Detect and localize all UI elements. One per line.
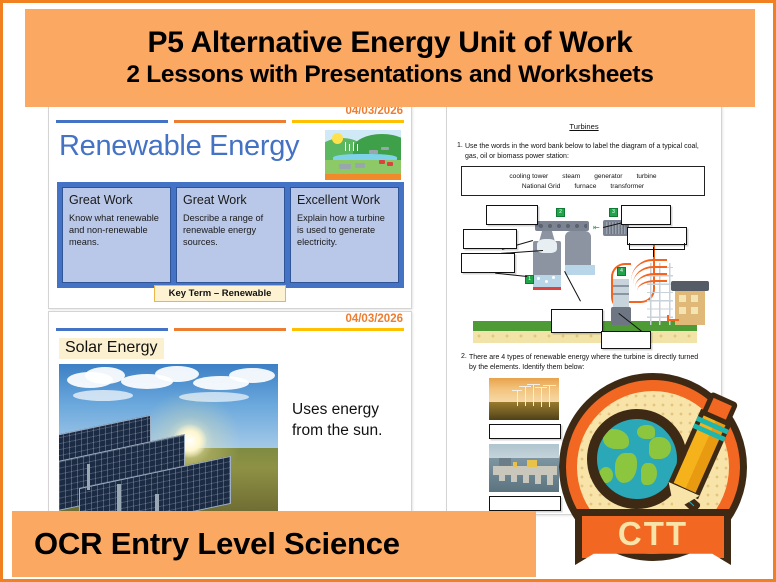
power-station-diagram: ⇤ 1 2 3 — [461, 203, 705, 345]
renewable-energy-landscape-clipart — [325, 130, 401, 180]
solar-panel-field-photo — [59, 364, 278, 514]
accent-bar-orange — [174, 120, 286, 123]
ctt-logo-badge: CTT — [555, 369, 763, 577]
slide-renewable-energy[interactable]: 04/03/2026 Renewable Energy — [48, 103, 412, 309]
word-bank-term: turbine — [636, 173, 656, 180]
word-bank-row-2: National Grid furnace transformer — [522, 183, 644, 190]
word-bank: cooling tower steam generator turbine Na… — [461, 166, 705, 196]
objective-body: Know what renewable and non-renewable me… — [69, 212, 164, 248]
slide-accent-bars — [56, 120, 404, 123]
word-bank-term: steam — [562, 173, 580, 180]
learning-objectives-strip: Great Work Know what renewable and non-r… — [57, 182, 404, 288]
tidal-barrage-photo — [489, 444, 559, 492]
logo-text: CTT — [618, 516, 688, 550]
accent-bar-blue — [56, 120, 168, 123]
footer-banner: OCR Entry Level Science — [12, 511, 536, 577]
objective-body: Describe a range of renewable energy sou… — [183, 212, 278, 248]
wind-turbines-photo — [489, 378, 559, 420]
diagram-marker-2: 2 — [556, 208, 565, 217]
objective-body: Explain how a turbine is used to generat… — [297, 212, 392, 248]
word-bank-term: generator — [594, 173, 622, 180]
slide-title: Solar Energy — [59, 338, 164, 359]
accent-bar-yellow — [292, 120, 404, 123]
accent-bar-blue — [56, 328, 168, 331]
key-term-badge: Key Term – Renewable — [154, 285, 286, 302]
worksheet-title: Turbines — [447, 122, 721, 131]
objective-heading: Great Work — [69, 193, 164, 207]
diagram-marker-3: 3 — [609, 208, 618, 217]
word-bank-term: transformer — [610, 183, 644, 190]
word-bank-term: National Grid — [522, 183, 560, 190]
word-bank-row-1: cooling tower steam generator turbine — [509, 173, 656, 180]
answer-box-1[interactable] — [489, 424, 561, 439]
slide-preview-stack: 04/03/2026 Renewable Energy — [48, 103, 412, 515]
slide-accent-bars — [56, 328, 404, 331]
question-2-number: 2. — [461, 353, 467, 360]
diagram-label-box[interactable] — [461, 253, 515, 273]
objective-box-3: Excellent Work Explain how a turbine is … — [290, 187, 399, 283]
diagram-label-box[interactable] — [463, 229, 517, 249]
diagram-marker-4: 4 — [617, 267, 626, 276]
poster-frame: 04/03/2026 Renewable Energy — [0, 0, 776, 582]
question-1-number: 1. — [457, 142, 463, 149]
slide-solar-energy[interactable]: 04/03/2026 Solar Energy — [48, 311, 412, 515]
objective-box-2: Great Work Describe a range of renewable… — [176, 187, 285, 283]
diagram-label-box[interactable] — [551, 309, 603, 333]
title-line-2: 2 Lessons with Presentations and Workshe… — [126, 62, 653, 89]
slide-body-text: Uses energy from the sun. — [292, 400, 407, 442]
objective-box-1: Great Work Know what renewable and non-r… — [62, 187, 171, 283]
objective-heading: Excellent Work — [297, 193, 392, 207]
diagram-label-box[interactable] — [601, 331, 651, 349]
question-1-text: Use the words in the word bank below to … — [465, 142, 705, 162]
answer-box-2[interactable] — [489, 496, 561, 511]
diagram-label-box[interactable] — [621, 205, 671, 225]
diagram-label-box[interactable] — [486, 205, 538, 225]
word-bank-term: cooling tower — [509, 173, 548, 180]
slide-title: Renewable Energy — [59, 130, 299, 163]
word-bank-term: furnace — [574, 183, 596, 190]
accent-bar-orange — [174, 328, 286, 331]
header-banner: P5 Alternative Energy Unit of Work 2 Les… — [25, 9, 755, 107]
accent-bar-yellow — [292, 328, 404, 331]
objective-heading: Great Work — [183, 193, 278, 207]
slide-date: 04/03/2026 — [345, 313, 403, 325]
title-line-1: P5 Alternative Energy Unit of Work — [148, 27, 633, 59]
footer-title: OCR Entry Level Science — [12, 526, 400, 562]
